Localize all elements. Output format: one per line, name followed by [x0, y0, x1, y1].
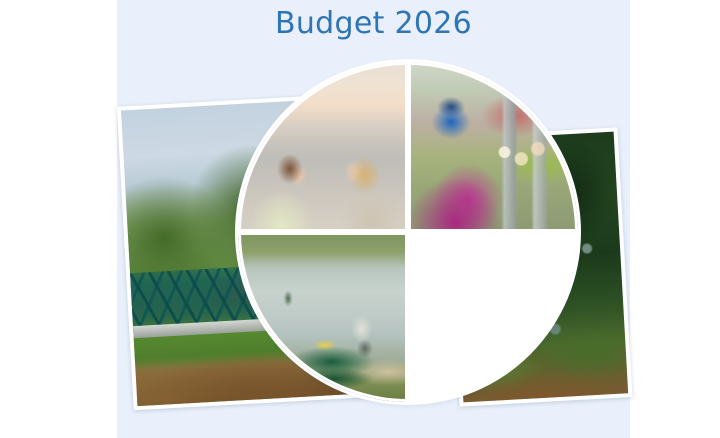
- page-title: Budget 2026: [117, 6, 630, 41]
- circular-photo-collage[interactable]: [238, 62, 578, 402]
- collage-white-rim: [238, 62, 578, 402]
